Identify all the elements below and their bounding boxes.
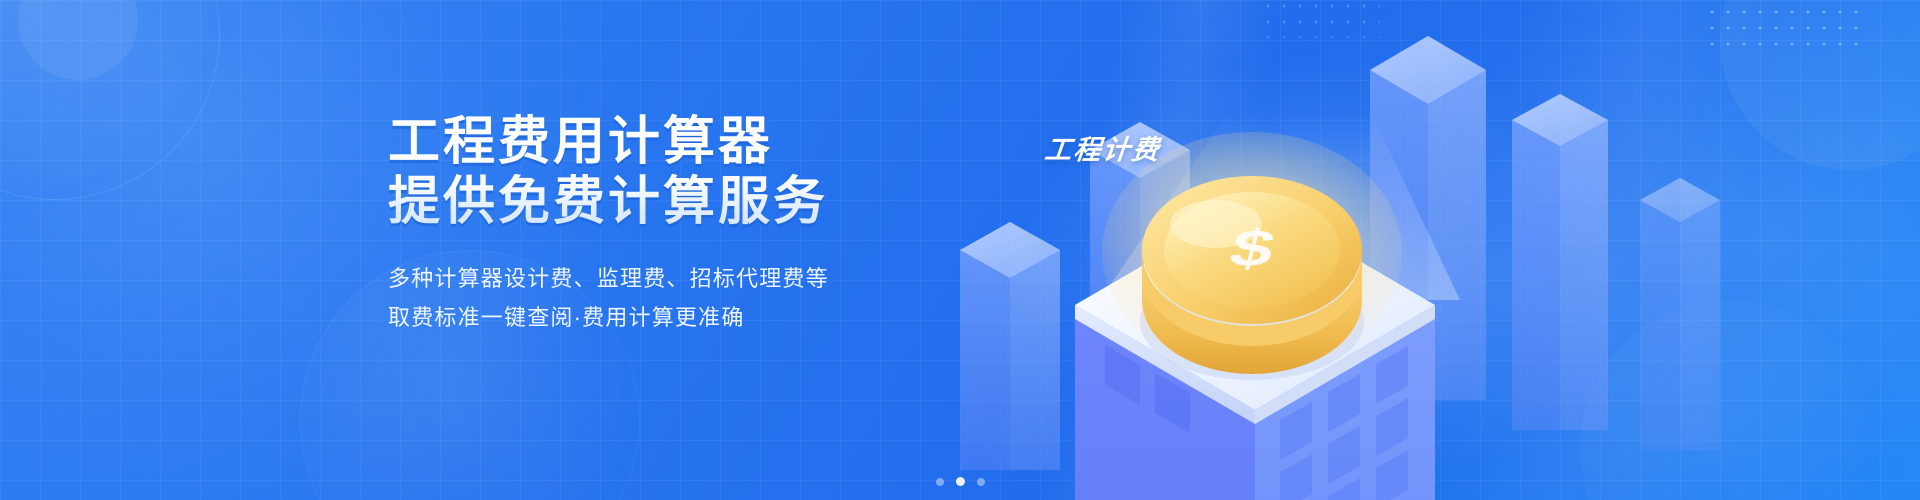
carousel-dot-2[interactable] [956, 477, 965, 486]
banner-illustration: $ 工程计费 [900, 0, 1920, 500]
carousel-indicators[interactable] [0, 477, 1920, 486]
isometric-scene: $ [900, 0, 1920, 500]
carousel-dot-1[interactable] [936, 478, 944, 486]
illustration-label: 工程计费 [1043, 128, 1163, 167]
hero-banner: 工程费用计算器 提供免费计算服务 多种计算器设计费、监理费、招标代理费等 取费标… [0, 0, 1920, 500]
gold-coin: $ [1142, 176, 1362, 374]
carousel-dot-3[interactable] [977, 478, 985, 486]
